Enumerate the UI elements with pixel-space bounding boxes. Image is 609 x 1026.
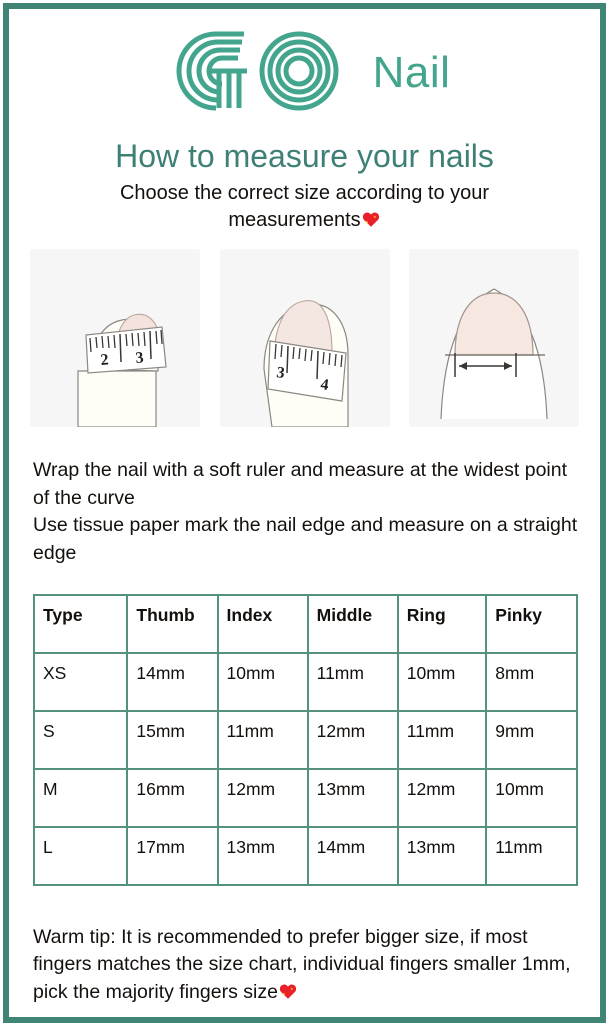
cell-middle: 14mm — [308, 827, 398, 885]
cell-ring: 12mm — [398, 769, 487, 827]
cell-middle: 11mm — [308, 653, 398, 711]
sparkling-heart-icon — [361, 209, 381, 229]
size-chart-table: Type Thumb Index Middle Ring Pinky XS 14… — [33, 594, 578, 886]
cell-pinky: 10mm — [486, 769, 577, 827]
cell-middle: 13mm — [308, 769, 398, 827]
cell-index: 12mm — [218, 769, 308, 827]
instruction-line-1: Wrap the nail with a soft ruler and meas… — [33, 457, 578, 512]
brand-logo: Nail — [25, 21, 584, 125]
instruction-line-2: Use tissue paper mark the nail edge and … — [33, 512, 578, 567]
column-header-pinky: Pinky — [486, 595, 577, 653]
svg-text:3: 3 — [135, 349, 144, 367]
page-subtitle-text: Choose the correct size according to you… — [120, 182, 489, 230]
cell-index: 11mm — [218, 711, 308, 769]
page-title: How to measure your nails — [25, 139, 584, 174]
go-concentric-logo-icon — [159, 21, 359, 126]
table-row: XS 14mm 10mm 11mm 10mm 8mm — [34, 653, 577, 711]
size-chart-wrapper: Type Thumb Index Middle Ring Pinky XS 14… — [33, 594, 578, 886]
warm-tip: Warm tip: It is recommended to prefer bi… — [33, 924, 578, 1007]
column-header-index: Index — [218, 595, 308, 653]
column-header-type: Type — [34, 595, 127, 653]
cell-middle: 12mm — [308, 711, 398, 769]
cell-thumb: 14mm — [127, 653, 217, 711]
nail-size-guide-page: Nail How to measure your nails Choose th… — [0, 0, 609, 1026]
cell-index: 13mm — [218, 827, 308, 885]
cell-index: 10mm — [218, 653, 308, 711]
cell-ring: 10mm — [398, 653, 487, 711]
cell-ring: 13mm — [398, 827, 487, 885]
cell-thumb: 15mm — [127, 711, 217, 769]
finger-side-ruler-photo: 2 3 — [30, 249, 200, 427]
measuring-instructions: Wrap the nail with a soft ruler and meas… — [33, 457, 578, 568]
cell-type: S — [34, 711, 127, 769]
column-header-ring: Ring — [398, 595, 487, 653]
cell-type: L — [34, 827, 127, 885]
column-header-thumb: Thumb — [127, 595, 217, 653]
finger-front-ruler-photo: 3 4 — [220, 249, 390, 427]
page-subtitle: Choose the correct size according to you… — [90, 180, 520, 233]
measurement-photo-strip: 2 3 — [25, 249, 584, 427]
table-row: S 15mm 11mm 12mm 11mm 9mm — [34, 711, 577, 769]
nail-width-arrow-photo — [409, 249, 579, 427]
table-row: M 16mm 12mm 13mm 12mm 10mm — [34, 769, 577, 827]
column-header-middle: Middle — [308, 595, 398, 653]
sparkling-heart-icon — [278, 981, 298, 1001]
table-row: L 17mm 13mm 14mm 13mm 11mm — [34, 827, 577, 885]
table-header-row: Type Thumb Index Middle Ring Pinky — [34, 595, 577, 653]
cell-type: XS — [34, 653, 127, 711]
cell-pinky: 8mm — [486, 653, 577, 711]
cell-pinky: 9mm — [486, 711, 577, 769]
warm-tip-text: Warm tip: It is recommended to prefer bi… — [33, 926, 571, 1003]
cell-type: M — [34, 769, 127, 827]
cell-pinky: 11mm — [486, 827, 577, 885]
cell-ring: 11mm — [398, 711, 487, 769]
cell-thumb: 16mm — [127, 769, 217, 827]
teal-border-frame: Nail How to measure your nails Choose th… — [3, 3, 606, 1023]
brand-word: Nail — [373, 51, 451, 95]
svg-text:2: 2 — [100, 351, 109, 369]
cell-thumb: 17mm — [127, 827, 217, 885]
